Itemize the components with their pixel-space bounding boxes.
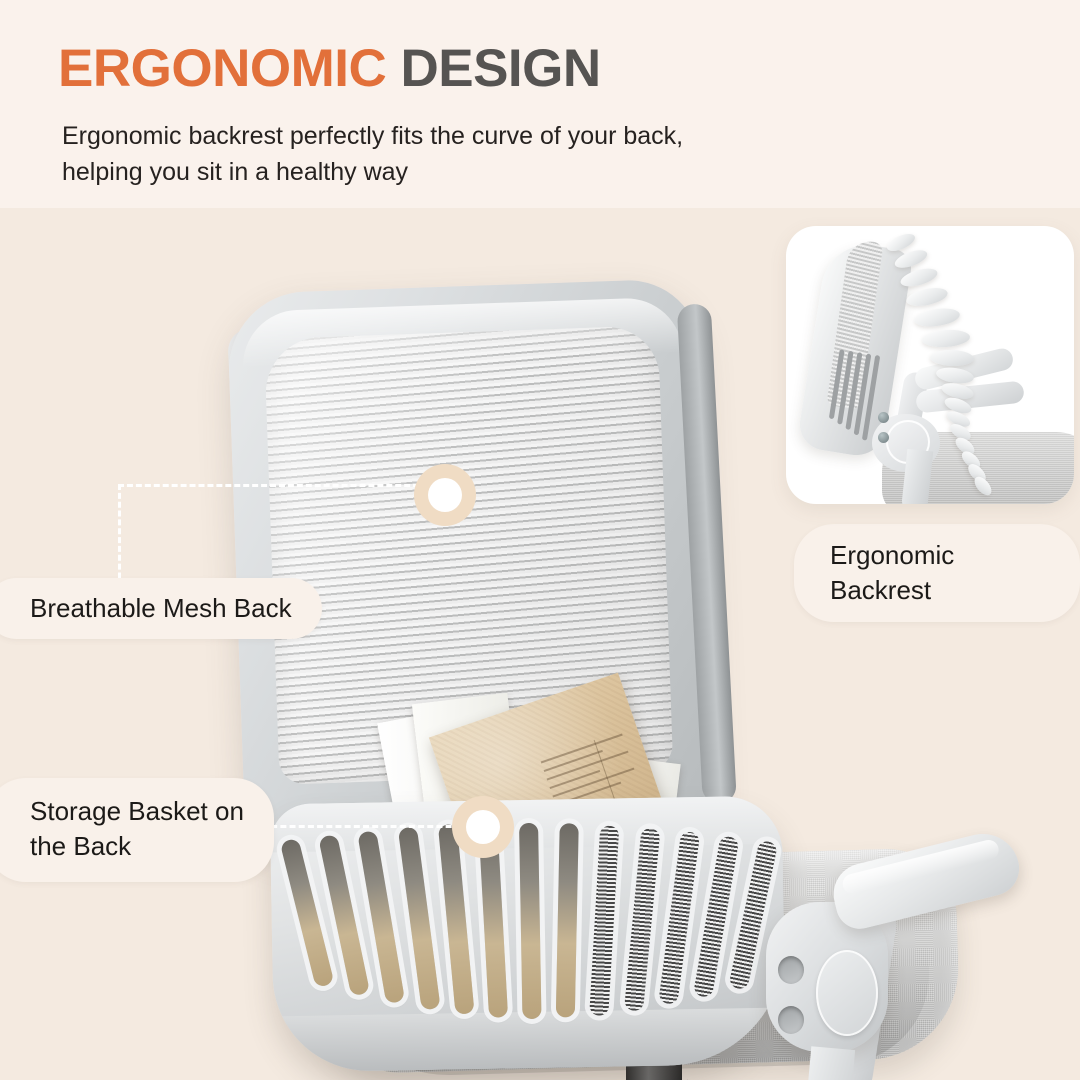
callout-label-storage-basket: Storage Basket on the Back [0, 778, 274, 882]
page-title-accent: ERGONOMIC [58, 39, 386, 98]
infographic-canvas: ERGONOMIC DESIGN Ergonomic backrest perf… [0, 0, 1080, 1080]
page-subtitle: Ergonomic backrest perfectly fits the cu… [62, 118, 782, 190]
storage-basket [270, 796, 787, 1073]
spine-vertebra [905, 285, 949, 309]
spine-graphic [786, 226, 1074, 504]
storage-basket-slat [624, 828, 660, 1011]
storage-basket-slat [556, 824, 579, 1019]
armrest-hub-hole [778, 956, 804, 984]
callout-label-text: Ergonomic Backrest [830, 538, 1044, 608]
page-subtitle-line-2: helping you sit in a healthy way [62, 154, 782, 190]
callout-label-breathable-mesh-back: Breathable Mesh Back [0, 578, 322, 639]
inset-photo [786, 226, 1074, 504]
spine-vertebra [899, 265, 940, 290]
spine-vertebra [913, 306, 961, 329]
spine-vertebra [921, 328, 970, 348]
header: ERGONOMIC DESIGN Ergonomic backrest perf… [58, 42, 958, 190]
callout-label-text: Breathable Mesh Back [30, 591, 292, 626]
callout-connector-basket [262, 825, 470, 828]
storage-basket-slat [590, 825, 620, 1016]
armrest-pivot-disc [816, 950, 878, 1036]
inset-photo-card [786, 226, 1074, 504]
storage-basket-slat [397, 827, 440, 1010]
spine-vertebra [971, 474, 994, 499]
storage-basket-slat [658, 831, 700, 1005]
spine-vertebra [930, 349, 975, 367]
callout-label-text: Storage Basket on the Back [30, 794, 244, 864]
storage-basket-slat [519, 823, 541, 1019]
page-subtitle-line-1: Ergonomic backrest perfectly fits the cu… [62, 118, 782, 154]
armrest-hub-hole [778, 1006, 804, 1034]
callout-label-ergonomic-backrest: Ergonomic Backrest [794, 524, 1080, 622]
hotspot-marker-mesh[interactable] [414, 464, 476, 526]
page-title-rest: DESIGN [386, 39, 600, 98]
page-title: ERGONOMIC DESIGN [58, 42, 958, 96]
hotspot-marker-basket[interactable] [452, 796, 514, 858]
